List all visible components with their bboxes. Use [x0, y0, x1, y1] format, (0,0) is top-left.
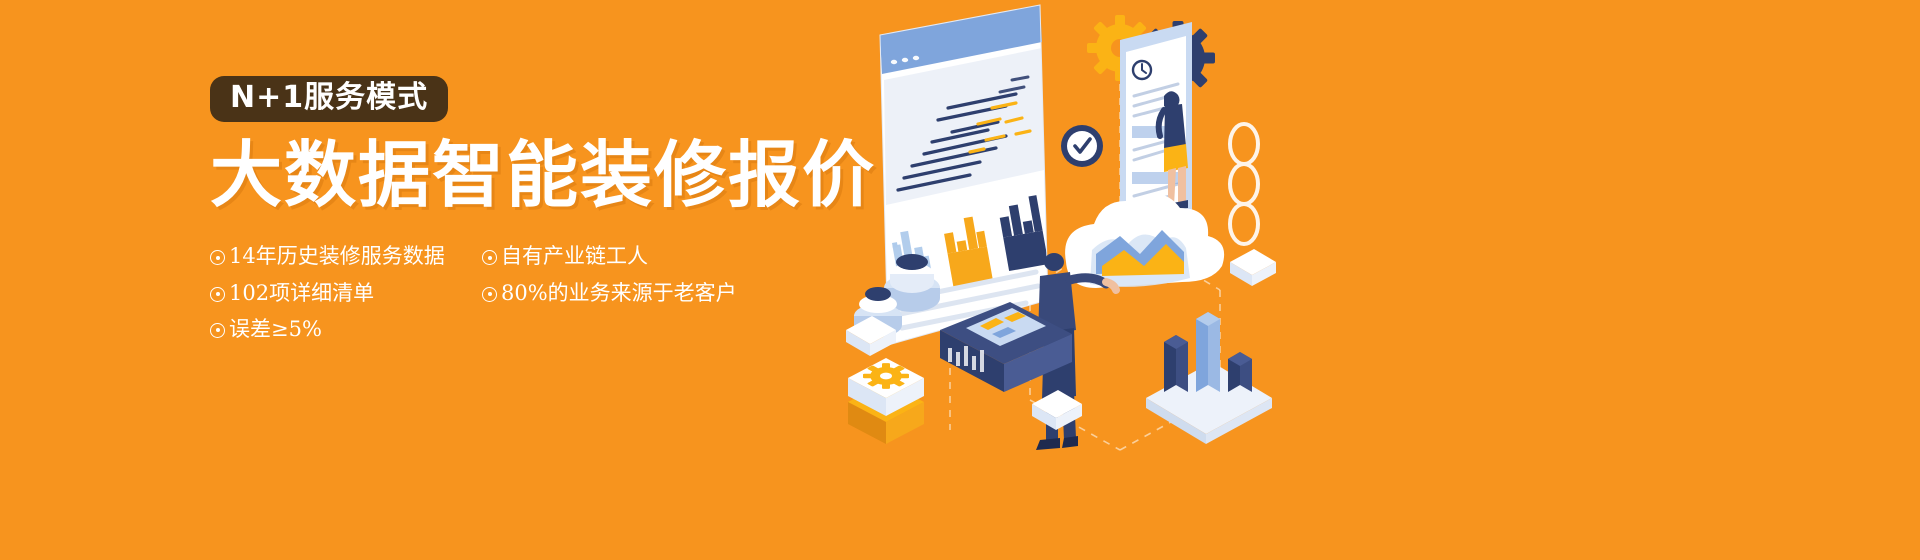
list-item: 自有产业链工人 [482, 238, 782, 274]
hero-illustration [820, 0, 1380, 560]
list-item-label: 102项详细清单 [229, 275, 374, 311]
circled-dot-icon [210, 287, 225, 302]
circled-dot-icon [210, 250, 225, 265]
bullet-column-left: 14年历史装修服务数据 102项详细清单 误差≥5% [210, 238, 482, 346]
decorative-rings [1230, 124, 1258, 244]
bullet-column-right: 自有产业链工人 80%的业务来源于老客户 [482, 238, 782, 346]
list-item-label: 误差≥5% [229, 311, 322, 347]
list-item-label: 80%的业务来源于老客户 [501, 275, 737, 311]
list-item-label: 14年历史装修服务数据 [229, 238, 445, 274]
list-item: 误差≥5% [210, 311, 482, 347]
circled-dot-icon [482, 287, 497, 302]
promo-banner: N+1服务模式 大数据智能装修报价 14年历史装修服务数据 102项详细清单 误… [0, 0, 1920, 560]
circled-dot-icon [210, 323, 225, 338]
list-item: 102项详细清单 [210, 275, 482, 311]
check-badge [1061, 125, 1103, 167]
list-item-label: 自有产业链工人 [501, 238, 648, 274]
service-model-badge: N+1服务模式 [210, 76, 448, 122]
circled-dot-icon [482, 250, 497, 265]
list-item: 80%的业务来源于老客户 [482, 275, 782, 311]
feature-bullets: 14年历史装修服务数据 102项详细清单 误差≥5% 自有产业链工人 [210, 238, 830, 346]
bar-chart-podium [1146, 312, 1272, 444]
list-item: 14年历史装修服务数据 [210, 238, 482, 274]
